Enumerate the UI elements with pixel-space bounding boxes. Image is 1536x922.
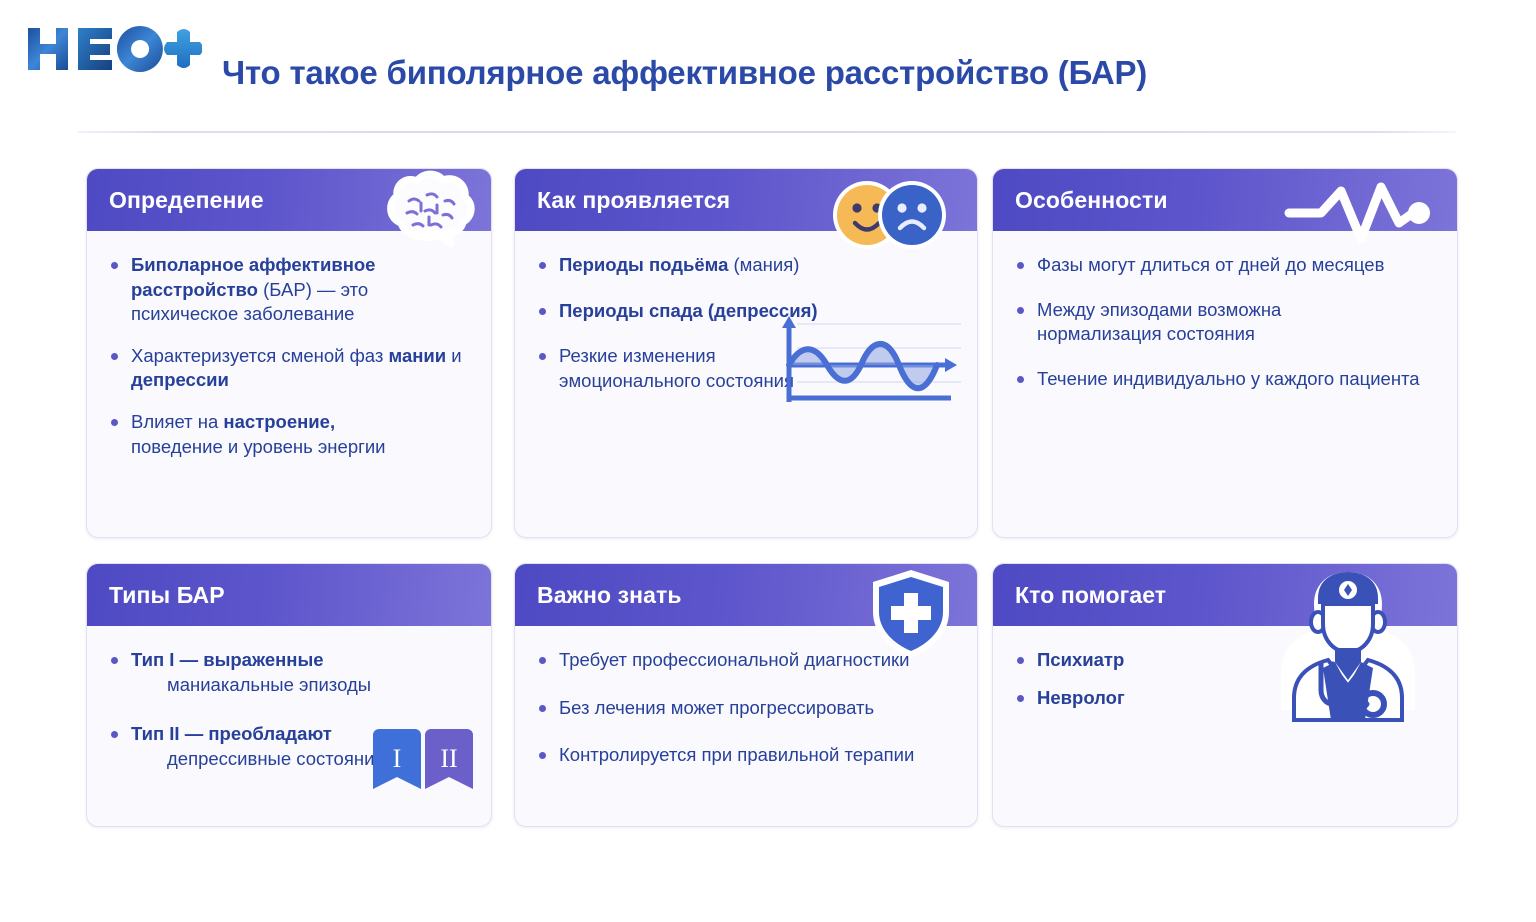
- bullet-lead-text: Влияет на: [131, 411, 223, 432]
- bullet-text: Требует профессиональной диагностики: [559, 649, 909, 670]
- list-item: Психиатр: [1013, 648, 1437, 673]
- list-item: Фазы могут длиться от дней до месяцев: [1013, 253, 1437, 278]
- bullet-rest-text: (мания): [728, 254, 799, 275]
- bullet-sub-text: поведение и уровень энергии: [131, 435, 471, 460]
- card-header-definition: Опредепение: [87, 169, 491, 231]
- bullet-list-features: Фазы могут длиться от дней до месяцев Ме…: [1013, 253, 1437, 391]
- card-header-types: Типы БАР: [87, 564, 491, 626]
- bullet-text: Течение индивидуально у каждого пациента: [1037, 368, 1420, 389]
- bullet-list-definition: Биполарное аффективное расстройство (БАР…: [107, 253, 471, 459]
- card-title-manifestation: Как проявляется: [515, 187, 730, 214]
- card-important: Важно знать Требует профессиональной диа…: [514, 563, 978, 827]
- bullet-sub-text: нормализация состояния: [1037, 322, 1437, 347]
- type-badges-icon: I II: [369, 729, 477, 800]
- neo-plus-logo: [22, 20, 202, 78]
- bullet-lead-text: Резкие изменения: [559, 345, 716, 366]
- list-item: Биполарное аффективное расстройство (БАР…: [107, 253, 471, 327]
- bullet-list-important: Требует профессиональной диагностики Без…: [535, 648, 957, 768]
- bullet-bold-text: Психиатр: [1037, 649, 1124, 670]
- card-title-types: Типы БАР: [87, 582, 225, 609]
- bullet-bold-text: Тип II — преобладают: [131, 723, 332, 744]
- card-manifestation: Как проявляется: [514, 168, 978, 538]
- list-item: Влияет на настроение, поведение и уровен…: [107, 410, 471, 459]
- bullet-list-who-helps: Психиатр Невролог: [1013, 648, 1437, 710]
- card-header-features: Особенности: [993, 169, 1457, 231]
- brain-icon: [371, 169, 491, 231]
- bullet-bold-text-2: депрессии: [131, 369, 229, 390]
- list-item: Требует профессиональной диагностики: [535, 648, 957, 673]
- card-body-who-helps: Психиатр Невролог: [993, 626, 1457, 826]
- card-definition: Опредепение: [86, 168, 492, 538]
- svg-text:II: II: [440, 744, 457, 773]
- card-title-important: Важно знать: [515, 582, 682, 609]
- bullet-text: Между эпизодами возможна: [1037, 299, 1281, 320]
- list-item: Течение индивидуально у каждого пациента: [1013, 367, 1437, 392]
- pulse-line-icon: [1283, 177, 1443, 239]
- mood-faces-icon: [819, 175, 959, 237]
- shield-cross-icon: [861, 566, 961, 628]
- emotion-wave-chart-icon: [775, 310, 965, 415]
- cards-row-top: Опредепение: [0, 168, 1536, 530]
- page-header: Что такое биполярное аффективное расстро…: [0, 0, 1536, 132]
- cards-row-bottom: Типы БАР Тип I — выраженные маниакальные…: [0, 563, 1536, 829]
- bullet-bold-text: мании: [389, 345, 447, 366]
- card-header-important: Важно знать: [515, 564, 977, 626]
- card-body-definition: Биполарное аффективное расстройство (БАР…: [87, 231, 491, 537]
- card-title-definition: Опредепение: [87, 187, 264, 214]
- bullet-bold-text: Тип I — выраженные: [131, 649, 324, 670]
- card-body-important: Требует профессиональной диагностики Без…: [515, 626, 977, 826]
- bullet-text: Фазы могут длиться от дней до месяцев: [1037, 254, 1384, 275]
- bullet-sub-text: эмоционального состояния: [559, 369, 809, 394]
- doctor-icon: [1273, 564, 1423, 626]
- card-who-helps: Кто помогает: [992, 563, 1458, 827]
- list-item: Тип I — выраженные маниакальные эпизоды: [107, 648, 471, 697]
- card-body-types: Тип I — выраженные маниакальные эпизоды …: [87, 626, 491, 826]
- bullet-lead-text: Характеризуется сменой фаз: [131, 345, 389, 366]
- list-item: Контролируется при правильной терапии: [535, 743, 957, 768]
- card-title-features: Особенности: [993, 187, 1168, 214]
- list-item: Резкие изменения эмоционального состояни…: [535, 344, 809, 393]
- bullet-bold-text: Невролог: [1037, 687, 1125, 708]
- card-title-who-helps: Кто помогает: [993, 582, 1166, 609]
- card-features: Особенности Фазы могут длиться от дней д…: [992, 168, 1458, 538]
- page-title: Что такое биполярное аффективное расстро…: [222, 54, 1147, 92]
- list-item: Характеризуется сменой фаз мании и депре…: [107, 344, 471, 393]
- bullet-sub-text: маниакальные эпизоды: [131, 673, 471, 698]
- card-header-manifestation: Как проявляется: [515, 169, 977, 231]
- cards-grid: Опредепение: [0, 168, 1536, 829]
- card-body-features: Фазы могут длиться от дней до месяцев Ме…: [993, 231, 1457, 537]
- header-divider: [78, 131, 1456, 133]
- bullet-text: Контролируется при правильной терапии: [559, 744, 914, 765]
- card-types: Типы БАР Тип I — выраженные маниакальные…: [86, 563, 492, 827]
- bullet-mid-text: и: [446, 345, 461, 366]
- list-item: Между эпизодами возможна нормализация со…: [1013, 298, 1437, 347]
- svg-text:I: I: [393, 744, 402, 773]
- list-item: Периоды подьёма (мания): [535, 253, 957, 278]
- bullet-bold-text: настроение,: [223, 411, 335, 432]
- bullet-text: Без лечения может прогрессировать: [559, 697, 874, 718]
- list-item: Невролог: [1013, 686, 1437, 711]
- card-body-manifestation: Периоды подьёма (мания) Периоды спада (д…: [515, 231, 977, 537]
- list-item: Без лечения может прогрессировать: [535, 696, 957, 721]
- bullet-bold-text: Периоды подьёма: [559, 254, 728, 275]
- card-header-who-helps: Кто помогает: [993, 564, 1457, 626]
